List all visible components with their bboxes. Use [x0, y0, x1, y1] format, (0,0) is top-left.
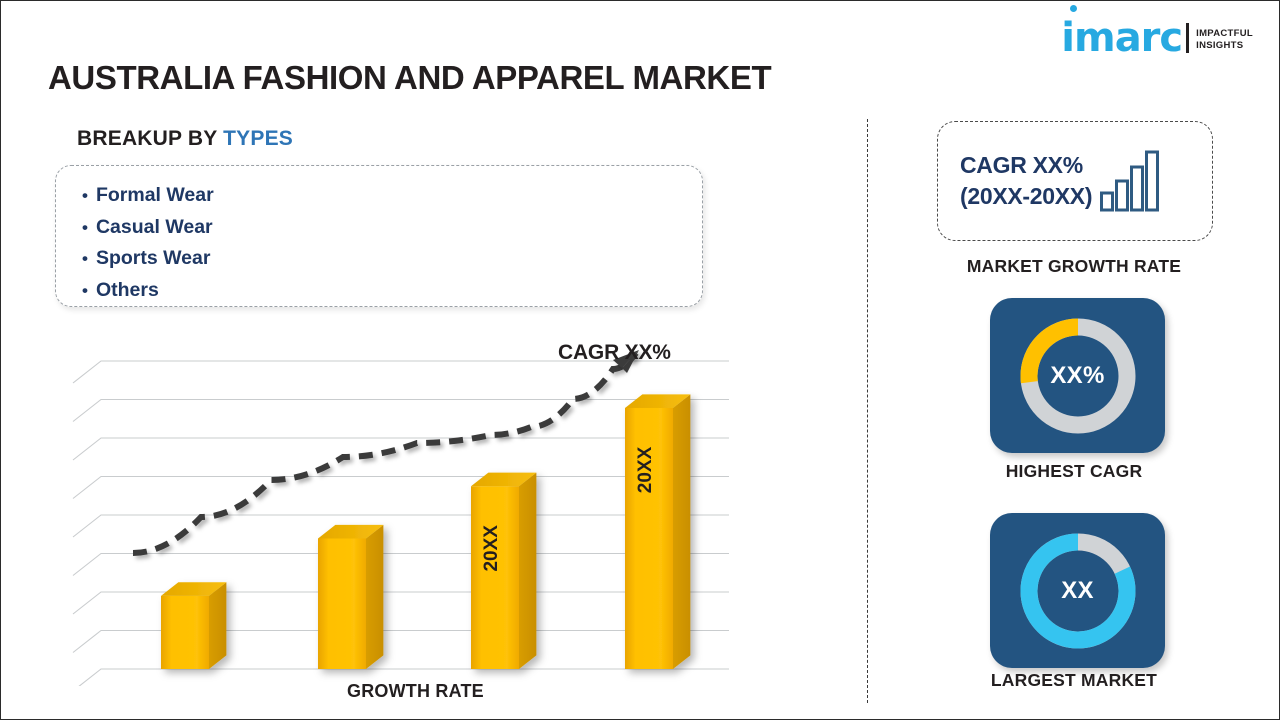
market-growth-rate-label: MARKET GROWTH RATE: [869, 256, 1279, 277]
highest-cagr-value: XX%: [1014, 312, 1142, 440]
cagr-value: CAGR XX%: [960, 150, 1092, 181]
largest-market-donut: XX: [1014, 527, 1142, 655]
bar-chart-icon: [1100, 150, 1160, 212]
list-item-label: Formal Wear: [96, 180, 214, 211]
list-item-label: Others: [96, 275, 159, 306]
breakup-highlight: TYPES: [223, 127, 293, 150]
svg-text:20XX: 20XX: [635, 446, 656, 493]
list-item: • Formal Wear: [82, 180, 702, 212]
chart-trend-label: CAGR XX%: [558, 341, 671, 365]
cagr-period: (20XX-20XX): [960, 181, 1092, 212]
list-item: • Sports Wear: [82, 243, 702, 275]
largest-market-label: LARGEST MARKET: [869, 670, 1279, 691]
highest-cagr-donut: XX%: [1014, 312, 1142, 440]
growth-bar-chart: 20XX20XX: [61, 331, 741, 686]
page-title: AUSTRALIA FASHION AND APPAREL MARKET: [48, 59, 771, 97]
svg-text:20XX: 20XX: [481, 525, 502, 572]
chart-axis-label: GROWTH RATE: [347, 681, 484, 702]
highest-cagr-tile: XX%: [990, 298, 1165, 453]
infographic-page: imarc IMPACTFUL INSIGHTS AUSTRALIA FASHI…: [0, 0, 1280, 720]
types-list-box: • Formal Wear • Casual Wear • Sports Wea…: [55, 165, 703, 307]
cagr-summary-text: CAGR XX% (20XX-20XX): [960, 150, 1092, 212]
highest-cagr-label: HIGHEST CAGR: [869, 461, 1279, 482]
breakup-heading: BREAKUP BY TYPES: [77, 127, 293, 151]
largest-market-value: XX: [1014, 527, 1142, 655]
bullet-icon: •: [82, 213, 88, 244]
right-panel: CAGR XX% (20XX-20XX) MARKET GROWTH RATE …: [869, 1, 1279, 720]
largest-market-tile: XX: [990, 513, 1165, 668]
list-item: • Others: [82, 275, 702, 307]
list-item-label: Casual Wear: [96, 212, 213, 243]
bullet-icon: •: [82, 276, 88, 307]
list-item-label: Sports Wear: [96, 243, 211, 274]
cagr-summary-box: CAGR XX% (20XX-20XX): [937, 121, 1213, 241]
breakup-prefix: BREAKUP BY: [77, 127, 223, 150]
chart-canvas: 20XX20XX: [61, 331, 741, 686]
panel-divider: [867, 119, 868, 703]
bullet-icon: •: [82, 181, 88, 212]
list-item: • Casual Wear: [82, 212, 702, 244]
bullet-icon: •: [82, 244, 88, 275]
